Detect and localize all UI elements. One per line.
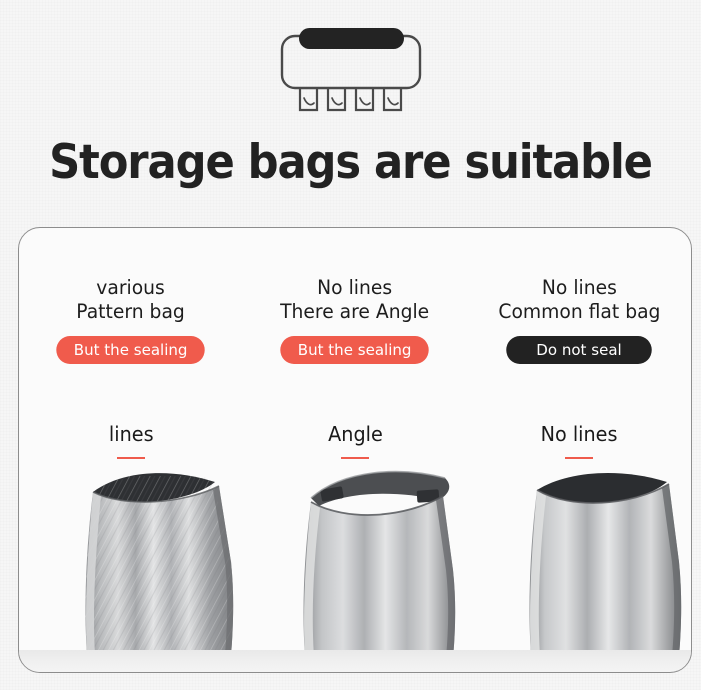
column-heading: No lines Common flat bag	[498, 276, 660, 324]
column-heading: various Pattern bag	[77, 276, 186, 324]
textured-embossed-bag	[43, 466, 263, 673]
column-heading: No lines There are Angle	[280, 276, 429, 324]
caption-underline	[565, 457, 593, 459]
bag-photo-strip	[19, 460, 691, 672]
column-caption: Angle	[328, 422, 383, 446]
column-heading-line1: No lines	[280, 276, 429, 300]
column-caption: No lines	[541, 422, 618, 446]
column-heading-line1: various	[77, 276, 186, 300]
page-title: Storage bags are suitable	[28, 133, 673, 193]
column-heading-line2: Pattern bag	[77, 300, 186, 324]
gusseted-angle-bag	[277, 466, 487, 673]
caption-underline	[341, 457, 369, 459]
header-icon-container	[0, 26, 701, 112]
column-heading-line2: There are Angle	[280, 300, 429, 324]
status-badge: Do not seal	[506, 336, 652, 364]
vacuum-seal-bag-icon	[271, 26, 431, 112]
status-badge: But the sealing	[281, 336, 430, 364]
column-heading-line1: No lines	[498, 276, 660, 300]
caption-underline	[117, 457, 145, 459]
status-badge: But the sealing	[57, 336, 206, 364]
comparison-card: various Pattern bag But the sealing line…	[18, 227, 692, 673]
page-root: Storage bags are suitable various Patter…	[0, 0, 701, 690]
column-heading-line2: Common flat bag	[498, 300, 660, 324]
plain-flat-bag	[505, 466, 692, 673]
surface-floor	[19, 650, 691, 672]
column-caption: lines	[109, 422, 154, 446]
